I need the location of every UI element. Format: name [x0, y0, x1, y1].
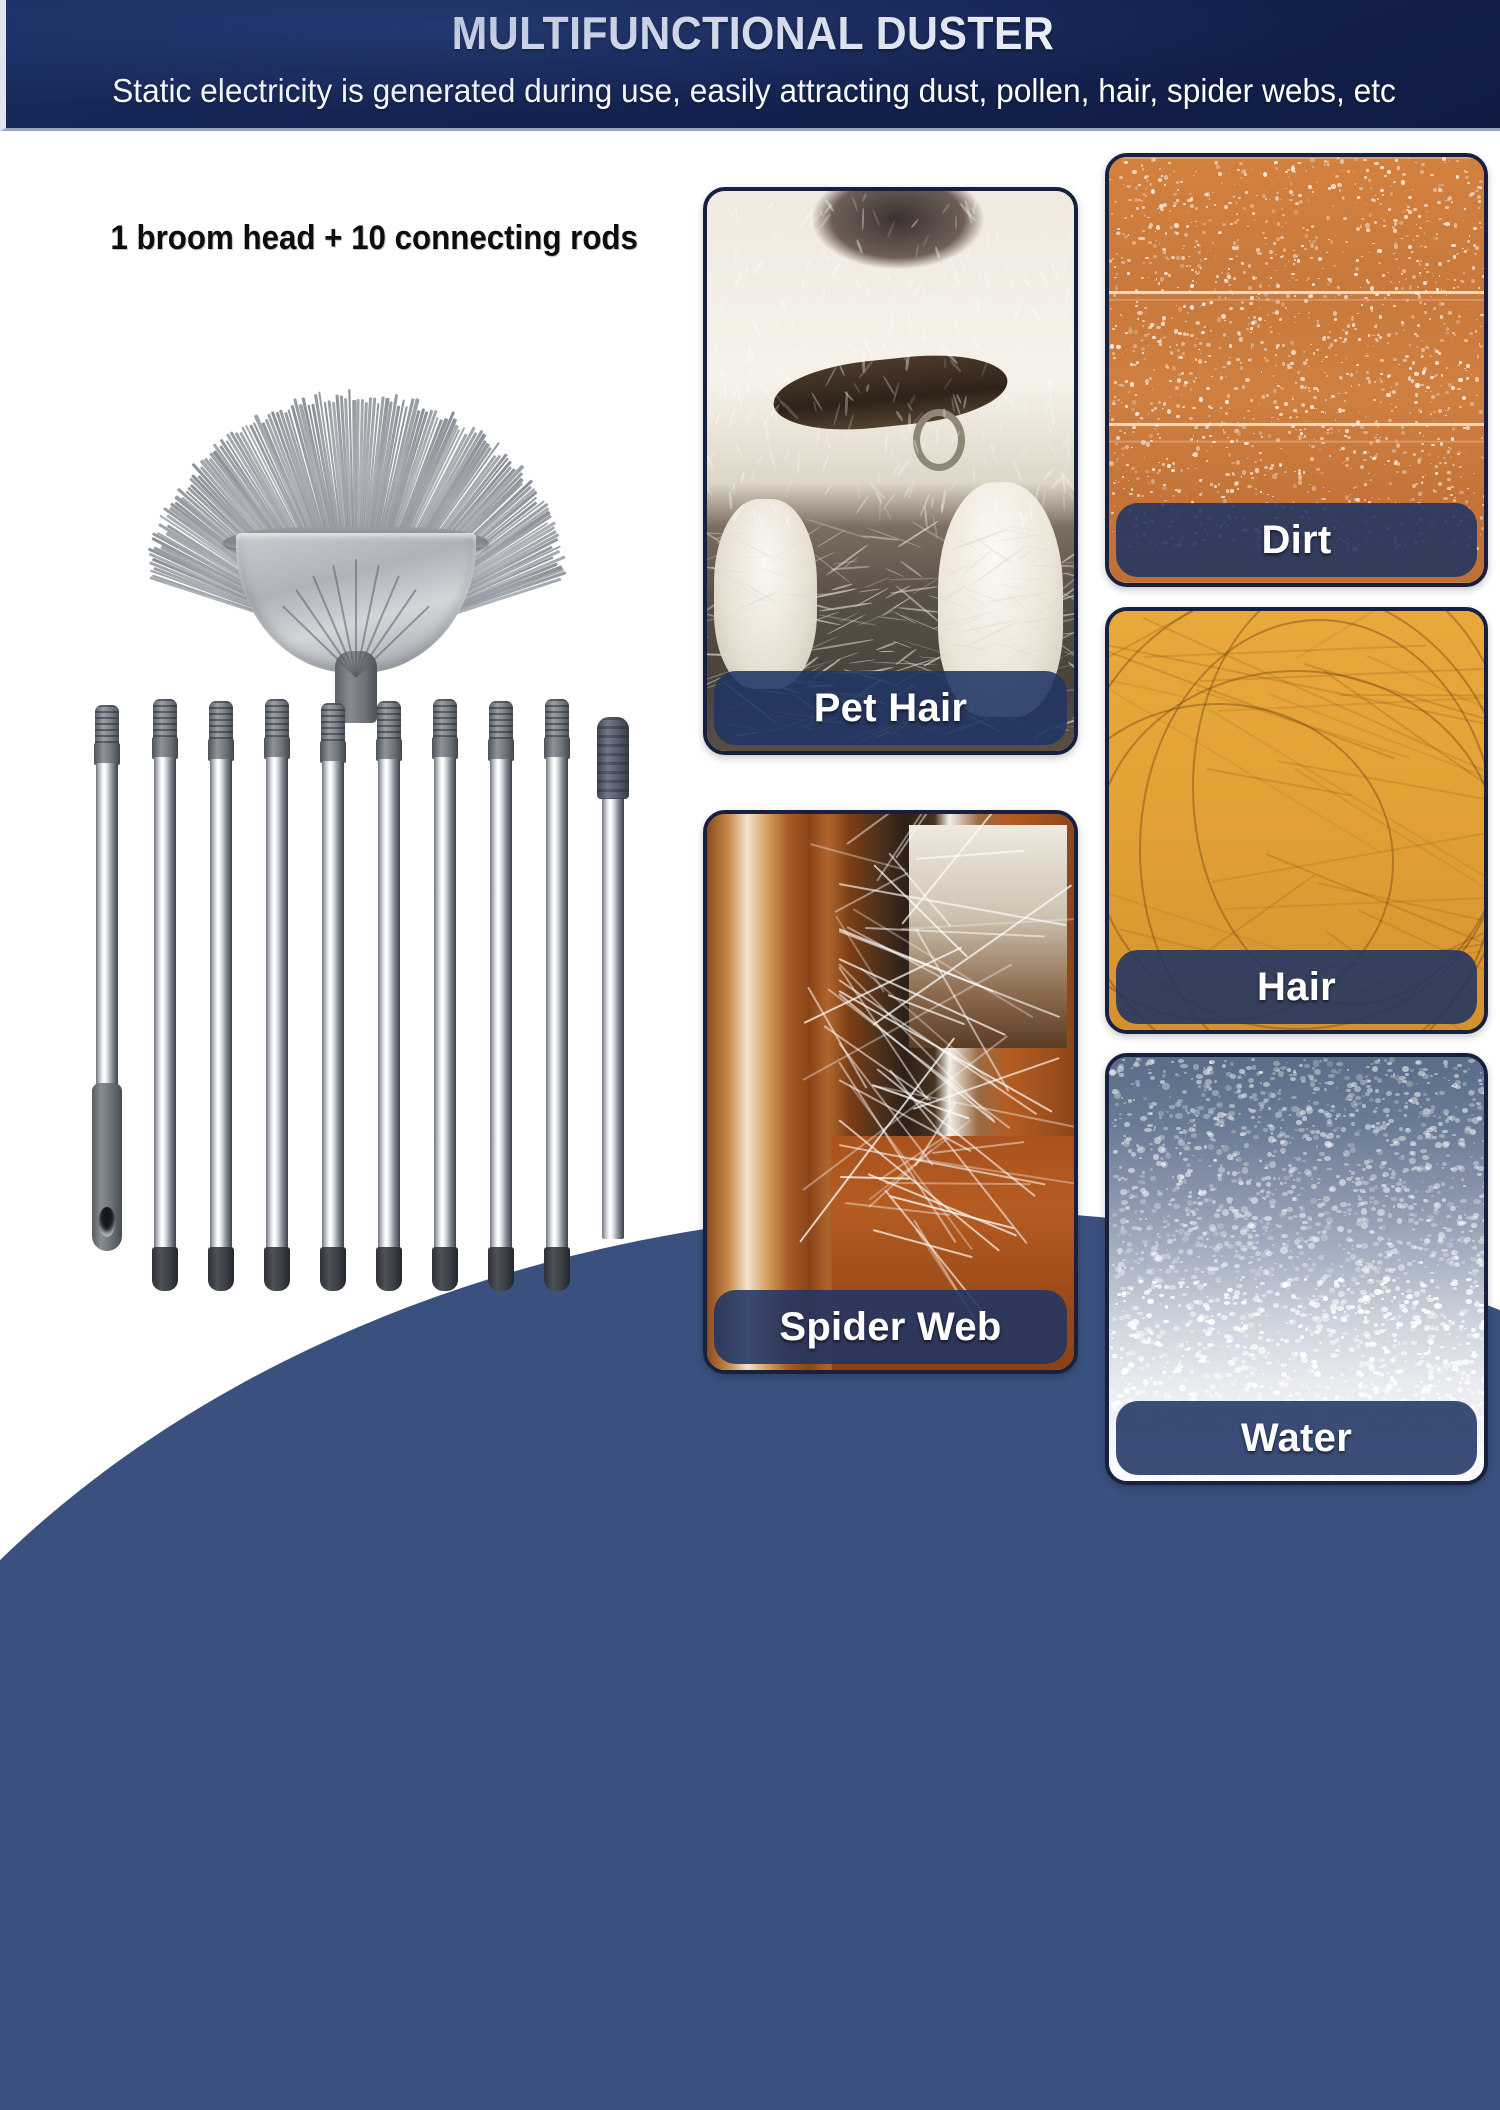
- dust-fleck: [1275, 365, 1277, 367]
- dust-fleck: [1229, 307, 1232, 310]
- water-droplet: [1112, 1213, 1117, 1217]
- dust-fleck: [1183, 245, 1186, 247]
- dust-fleck: [1289, 280, 1290, 281]
- water-droplet: [1305, 1328, 1309, 1331]
- dog-fur-strand: [849, 290, 853, 306]
- water-droplet: [1428, 1347, 1431, 1349]
- dust-fleck: [1156, 326, 1160, 329]
- water-droplet: [1338, 1345, 1341, 1347]
- dust-fleck: [1247, 458, 1249, 460]
- water-droplet: [1479, 1337, 1484, 1341]
- water-droplet: [1265, 1230, 1267, 1232]
- water-droplet: [1433, 1209, 1439, 1215]
- water-droplet: [1471, 1370, 1476, 1374]
- water-droplet: [1210, 1384, 1217, 1391]
- dust-fleck: [1393, 367, 1394, 368]
- dust-fleck: [1132, 400, 1136, 404]
- dust-fleck: [1198, 349, 1199, 350]
- dust-fleck: [1127, 235, 1129, 236]
- dust-fleck: [1146, 179, 1149, 182]
- dust-fleck: [1118, 481, 1119, 482]
- dog-fur-strand: [825, 435, 831, 450]
- dust-fleck: [1440, 442, 1443, 446]
- rod-tube: [210, 759, 232, 1253]
- dust-fleck: [1252, 212, 1255, 215]
- water-droplet: [1257, 1121, 1260, 1123]
- dust-fleck: [1225, 412, 1228, 415]
- dust-fleck: [1290, 362, 1294, 366]
- water-droplet: [1253, 1222, 1258, 1226]
- rod-collar: [152, 737, 178, 759]
- dust-fleck: [1160, 209, 1164, 212]
- dust-fleck: [1419, 432, 1421, 434]
- water-droplet: [1411, 1477, 1414, 1480]
- water-droplet: [1175, 1113, 1182, 1119]
- water-droplet: [1237, 1089, 1242, 1093]
- water-droplet: [1313, 1237, 1320, 1242]
- dust-fleck: [1355, 267, 1359, 271]
- water-droplet: [1473, 1199, 1480, 1204]
- water-droplet: [1241, 1360, 1246, 1364]
- dust-fleck: [1478, 200, 1481, 203]
- water-droplet: [1330, 1329, 1336, 1334]
- water-droplet: [1238, 1328, 1244, 1333]
- water-droplet: [1260, 1091, 1266, 1095]
- dust-fleck: [1120, 314, 1122, 316]
- dust-fleck: [1442, 157, 1446, 161]
- water-droplet: [1259, 1385, 1263, 1388]
- water-droplet: [1305, 1392, 1308, 1394]
- connecting-rod: [208, 701, 234, 1291]
- water-droplet: [1350, 1254, 1356, 1260]
- water-droplet: [1255, 1241, 1260, 1245]
- water-droplet: [1459, 1325, 1464, 1329]
- dust-fleck: [1380, 166, 1384, 169]
- water-droplet: [1187, 1303, 1194, 1310]
- water-droplet: [1473, 1480, 1475, 1481]
- use-case-card-spider-web[interactable]: Spider Web: [703, 810, 1078, 1374]
- water-droplet: [1315, 1222, 1322, 1227]
- water-droplet: [1303, 1059, 1305, 1061]
- water-droplet: [1311, 1178, 1313, 1180]
- dust-fleck: [1159, 212, 1160, 213]
- water-droplet: [1182, 1293, 1187, 1296]
- dust-fleck: [1386, 393, 1390, 397]
- water-droplet: [1302, 1160, 1305, 1163]
- dog-fur-strand: [849, 343, 857, 352]
- water-droplet: [1351, 1248, 1354, 1250]
- water-droplet: [1183, 1158, 1188, 1161]
- water-droplet: [1378, 1476, 1382, 1479]
- water-droplet: [1451, 1252, 1455, 1255]
- dust-fleck: [1124, 432, 1126, 434]
- dust-fleck: [1135, 471, 1137, 473]
- dust-fleck: [1335, 419, 1337, 420]
- dust-fleck: [1210, 330, 1212, 332]
- water-droplet: [1207, 1267, 1212, 1270]
- dust-fleck: [1130, 382, 1134, 386]
- dust-fleck: [1131, 447, 1133, 449]
- water-droplet: [1342, 1284, 1347, 1287]
- water-droplet: [1179, 1131, 1183, 1134]
- broom-hub-rib: [355, 559, 357, 677]
- dust-fleck: [1181, 256, 1185, 260]
- dust-fleck: [1223, 431, 1226, 434]
- water-droplet: [1326, 1268, 1333, 1273]
- water-droplet: [1302, 1116, 1306, 1120]
- water-droplet: [1179, 1152, 1182, 1154]
- water-droplet: [1442, 1198, 1446, 1201]
- dust-fleck: [1146, 383, 1149, 385]
- dust-fleck: [1277, 418, 1279, 420]
- dog-fur-strand: [796, 452, 800, 474]
- dust-fleck: [1478, 295, 1480, 297]
- water-droplet: [1249, 1269, 1256, 1273]
- dust-fleck: [1165, 256, 1168, 259]
- dust-fleck: [1431, 395, 1434, 398]
- dust-fleck: [1369, 213, 1372, 217]
- water-droplet: [1214, 1213, 1221, 1218]
- dust-fleck: [1357, 196, 1360, 198]
- dust-fleck: [1381, 388, 1385, 391]
- dust-fleck: [1229, 344, 1232, 348]
- dust-fleck: [1136, 412, 1140, 415]
- dust-fleck: [1356, 371, 1358, 373]
- dog-fur-strand: [735, 271, 743, 283]
- dust-fleck: [1465, 166, 1466, 167]
- water-droplet: [1205, 1331, 1212, 1335]
- water-droplet: [1196, 1300, 1203, 1305]
- dust-fleck: [1469, 309, 1470, 310]
- dust-fleck: [1390, 192, 1393, 195]
- water-droplet: [1223, 1354, 1226, 1356]
- water-droplet: [1281, 1372, 1287, 1377]
- dust-fleck: [1463, 450, 1464, 451]
- rod-end-cap: [432, 1247, 458, 1291]
- dust-fleck: [1424, 246, 1426, 248]
- dust-fleck: [1173, 202, 1177, 205]
- dust-fleck: [1151, 409, 1154, 412]
- dust-fleck: [1200, 305, 1202, 307]
- dust-fleck: [1112, 258, 1113, 260]
- water-droplet: [1183, 1144, 1190, 1150]
- water-droplet: [1353, 1189, 1358, 1193]
- dust-fleck: [1195, 377, 1197, 378]
- dog-fur-strand: [887, 220, 896, 238]
- connecting-rod: [94, 705, 120, 1251]
- dust-fleck: [1249, 358, 1253, 362]
- water-droplet: [1123, 1135, 1126, 1137]
- dust-fleck: [1313, 352, 1315, 355]
- water-droplet: [1131, 1386, 1136, 1390]
- water-droplet: [1166, 1233, 1170, 1237]
- water-droplet: [1313, 1295, 1315, 1296]
- dust-fleck: [1316, 408, 1317, 409]
- dust-fleck: [1418, 215, 1421, 219]
- water-droplet: [1355, 1109, 1358, 1112]
- dust-fleck: [1241, 301, 1244, 304]
- water-droplet: [1261, 1177, 1266, 1181]
- dust-fleck: [1233, 277, 1236, 280]
- water-droplet: [1184, 1072, 1187, 1074]
- dust-fleck: [1157, 418, 1160, 420]
- dust-fleck: [1369, 479, 1373, 481]
- water-droplet: [1480, 1479, 1484, 1481]
- dust-fleck: [1266, 394, 1269, 397]
- dust-fleck: [1154, 428, 1156, 430]
- water-droplet: [1335, 1349, 1340, 1352]
- dust-fleck: [1115, 325, 1116, 326]
- water-droplet: [1175, 1102, 1181, 1107]
- water-droplet: [1435, 1365, 1437, 1366]
- water-droplet: [1214, 1188, 1217, 1190]
- dust-fleck: [1198, 271, 1201, 274]
- dust-fleck: [1359, 187, 1363, 190]
- dust-fleck: [1327, 283, 1330, 286]
- water-droplet: [1388, 1238, 1390, 1240]
- water-droplet: [1454, 1262, 1460, 1267]
- shed-pet-hair: [1062, 544, 1074, 563]
- water-droplet: [1174, 1135, 1179, 1139]
- water-droplet: [1315, 1288, 1317, 1290]
- dust-fleck: [1127, 272, 1129, 275]
- dust-fleck: [1390, 391, 1391, 393]
- dust-fleck: [1110, 308, 1112, 310]
- water-droplet: [1360, 1080, 1366, 1085]
- dog-fur-strand: [707, 276, 717, 293]
- water-droplet: [1335, 1395, 1339, 1399]
- dust-fleck: [1309, 484, 1311, 486]
- dust-fleck: [1300, 377, 1304, 381]
- dust-fleck: [1476, 463, 1477, 464]
- water-droplet: [1373, 1200, 1379, 1204]
- water-droplet: [1274, 1263, 1276, 1265]
- dust-fleck: [1479, 345, 1483, 348]
- water-droplet: [1432, 1335, 1436, 1338]
- dust-fleck: [1248, 323, 1250, 325]
- water-droplet: [1365, 1075, 1368, 1077]
- dust-fleck: [1458, 451, 1461, 453]
- water-droplet: [1183, 1179, 1187, 1183]
- rod-end-cap: [152, 1247, 178, 1291]
- dog-fur-strand: [745, 265, 748, 278]
- dog-fur-strand: [1061, 305, 1072, 324]
- dust-fleck: [1374, 221, 1377, 224]
- water-droplet: [1216, 1149, 1222, 1155]
- dust-fleck: [1268, 285, 1271, 287]
- dust-fleck: [1299, 429, 1302, 432]
- water-droplet: [1239, 1236, 1242, 1238]
- water-droplet: [1131, 1067, 1134, 1069]
- water-droplet: [1408, 1205, 1414, 1210]
- dust-fleck: [1141, 164, 1144, 167]
- dust-fleck: [1424, 234, 1426, 235]
- water-droplet: [1133, 1099, 1135, 1101]
- water-droplet: [1208, 1111, 1214, 1115]
- water-droplet: [1474, 1166, 1479, 1169]
- dog-fur-strand: [999, 420, 1004, 432]
- water-droplet: [1387, 1253, 1392, 1257]
- rod-thread: [489, 701, 513, 741]
- dust-fleck: [1326, 252, 1328, 253]
- water-droplet: [1247, 1243, 1251, 1246]
- water-droplet: [1324, 1088, 1327, 1091]
- shed-pet-hair: [864, 576, 890, 588]
- dust-fleck: [1436, 288, 1439, 290]
- water-droplet: [1456, 1362, 1463, 1366]
- water-droplet: [1267, 1236, 1274, 1240]
- water-droplet: [1242, 1167, 1248, 1173]
- water-droplet: [1337, 1306, 1344, 1311]
- dust-fleck: [1115, 287, 1118, 290]
- water-droplet: [1377, 1209, 1384, 1216]
- dust-fleck: [1447, 487, 1450, 489]
- dust-fleck: [1192, 280, 1194, 282]
- dust-fleck: [1299, 162, 1302, 164]
- water-droplet: [1456, 1206, 1459, 1207]
- dust-fleck: [1250, 332, 1252, 334]
- dust-fleck: [1446, 367, 1448, 369]
- water-droplet: [1396, 1388, 1402, 1392]
- dust-fleck: [1443, 457, 1446, 459]
- water-droplet: [1310, 1198, 1317, 1204]
- water-droplet: [1392, 1333, 1397, 1337]
- dust-fleck: [1447, 198, 1451, 201]
- dust-fleck: [1123, 184, 1124, 185]
- use-case-card-hair[interactable]: Hair: [1105, 607, 1488, 1034]
- dust-fleck: [1280, 236, 1283, 239]
- spider-web-thread: [835, 872, 910, 913]
- water-droplet: [1470, 1391, 1475, 1395]
- dust-fleck: [1209, 301, 1212, 304]
- dust-fleck: [1315, 246, 1319, 250]
- dust-fleck: [1445, 222, 1449, 226]
- water-droplet: [1259, 1331, 1264, 1335]
- dust-fleck: [1261, 436, 1263, 438]
- water-droplet: [1354, 1212, 1359, 1215]
- water-droplet: [1349, 1113, 1355, 1117]
- water-droplet: [1248, 1313, 1254, 1318]
- water-droplet: [1477, 1472, 1481, 1475]
- use-case-card-pet-hair[interactable]: Pet Hair: [703, 187, 1078, 755]
- water-droplet: [1415, 1083, 1418, 1085]
- water-droplet: [1210, 1227, 1217, 1232]
- dust-fleck: [1412, 484, 1416, 488]
- dust-fleck: [1480, 314, 1484, 317]
- water-droplet: [1415, 1315, 1420, 1318]
- water-droplet: [1461, 1478, 1463, 1480]
- water-droplet: [1251, 1344, 1257, 1350]
- dust-fleck: [1204, 193, 1208, 196]
- water-droplet: [1244, 1218, 1248, 1220]
- water-droplet: [1224, 1301, 1230, 1305]
- water-droplet: [1367, 1159, 1373, 1163]
- water-droplet: [1478, 1444, 1483, 1448]
- dust-fleck: [1425, 474, 1427, 475]
- dust-fleck: [1173, 193, 1176, 196]
- water-droplet: [1281, 1352, 1283, 1354]
- water-droplet: [1226, 1345, 1231, 1348]
- dust-fleck: [1463, 220, 1464, 221]
- dust-fleck: [1407, 206, 1411, 209]
- water-droplet: [1151, 1246, 1158, 1251]
- dust-fleck: [1417, 459, 1421, 464]
- water-droplet: [1150, 1076, 1155, 1080]
- dust-fleck: [1164, 184, 1167, 186]
- dust-fleck: [1443, 497, 1447, 500]
- water-droplet: [1193, 1201, 1196, 1204]
- dust-fleck: [1430, 376, 1434, 380]
- dust-fleck: [1430, 431, 1431, 432]
- dust-fleck: [1296, 416, 1298, 418]
- water-droplet: [1413, 1214, 1417, 1217]
- water-droplet: [1119, 1166, 1122, 1169]
- dust-fleck: [1227, 394, 1231, 398]
- dust-fleck: [1416, 224, 1417, 225]
- water-droplet: [1428, 1370, 1434, 1374]
- water-droplet: [1423, 1352, 1429, 1355]
- dust-fleck: [1264, 466, 1268, 469]
- dust-fleck: [1288, 176, 1290, 178]
- water-droplet: [1417, 1353, 1421, 1355]
- dust-fleck: [1412, 361, 1415, 365]
- water-droplet: [1122, 1059, 1125, 1061]
- water-droplet: [1222, 1262, 1227, 1267]
- dust-fleck: [1395, 287, 1398, 289]
- dust-fleck: [1280, 199, 1282, 200]
- shed-pet-hair: [1005, 578, 1034, 579]
- water-droplet: [1160, 1303, 1162, 1305]
- water-droplet: [1465, 1126, 1471, 1131]
- water-droplet: [1375, 1098, 1382, 1103]
- dust-fleck: [1457, 388, 1460, 390]
- water-droplet: [1168, 1396, 1171, 1399]
- dust-fleck: [1360, 171, 1362, 172]
- water-droplet: [1472, 1269, 1478, 1273]
- water-droplet: [1466, 1299, 1472, 1303]
- water-droplet: [1399, 1156, 1405, 1160]
- water-droplet: [1389, 1057, 1395, 1063]
- water-droplet: [1471, 1405, 1474, 1407]
- water-droplet: [1121, 1376, 1123, 1378]
- dust-fleck: [1191, 269, 1194, 271]
- use-case-card-water[interactable]: Water: [1105, 1053, 1488, 1485]
- dust-fleck: [1183, 423, 1185, 425]
- water-droplet: [1229, 1312, 1235, 1316]
- dust-fleck: [1139, 311, 1143, 315]
- water-droplet: [1182, 1355, 1184, 1356]
- water-droplet: [1198, 1159, 1203, 1162]
- use-case-card-dirt[interactable]: Dirt: [1105, 153, 1488, 587]
- water-droplet: [1362, 1168, 1365, 1171]
- water-droplet: [1323, 1397, 1328, 1400]
- water-droplet: [1158, 1085, 1161, 1087]
- dust-fleck: [1238, 424, 1242, 427]
- water-droplet: [1425, 1113, 1429, 1116]
- water-droplet: [1203, 1347, 1206, 1349]
- water-droplet: [1365, 1079, 1371, 1083]
- water-droplet: [1465, 1374, 1472, 1379]
- dust-fleck: [1165, 500, 1167, 502]
- water-droplet: [1251, 1058, 1255, 1061]
- water-droplet: [1317, 1231, 1321, 1234]
- dust-fleck: [1447, 478, 1451, 481]
- dust-fleck: [1227, 361, 1231, 365]
- dust-fleck: [1155, 424, 1159, 428]
- dog-collar: [770, 347, 1011, 438]
- dog-fur-strand: [886, 272, 892, 282]
- dust-fleck: [1128, 480, 1129, 481]
